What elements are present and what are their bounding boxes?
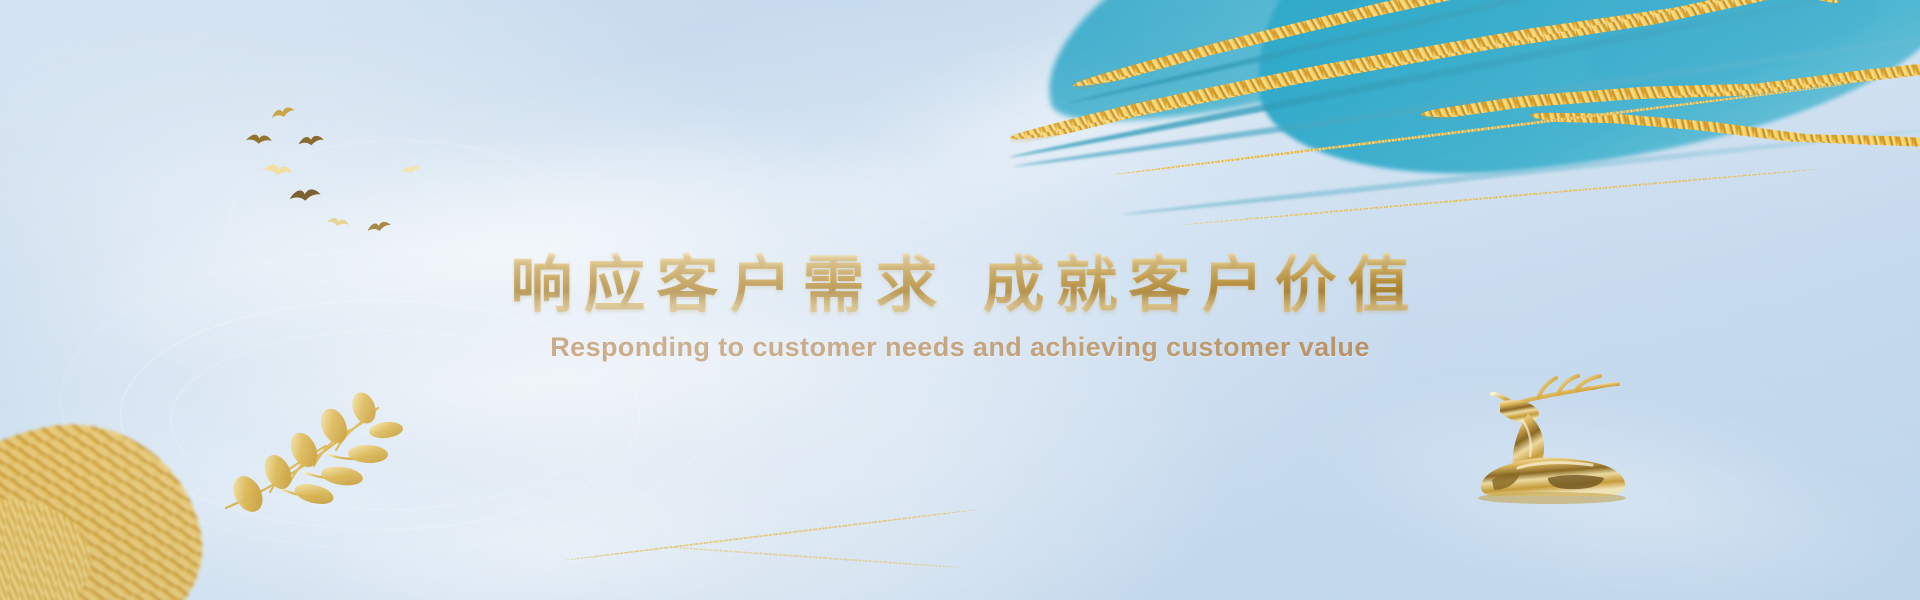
bird-icon [269,103,298,123]
vein-edge [1014,29,1920,170]
bird-icon [399,163,422,178]
teal-water-pool [1233,0,1920,201]
flying-birds-group [240,100,440,230]
gold-filament [1113,83,1848,176]
bird-icon [243,130,274,148]
marble-swirl [586,0,1555,443]
gold-marble-vein [1420,54,1920,127]
bird-icon [296,132,326,151]
gold-filament [561,508,978,561]
teal-water-pool [1015,0,1684,154]
gold-marble-vein [1070,0,1920,98]
page-subtitle: Responding to customer needs and achievi… [0,332,1920,363]
gold-marble-vein [1530,105,1920,154]
hero-banner: 响应客户需求成就客户价值 Responding to customer need… [0,0,1920,600]
bird-icon [261,159,295,181]
gold-leaf-branch-icon [218,368,428,518]
gold-marble-vein [1298,0,1842,13]
golden-deer-sculpture-icon [1452,368,1637,508]
bird-icon [287,185,322,206]
teal-water-pool [1572,0,1888,105]
bird-icon [365,218,393,236]
bird-icon [325,214,351,232]
headline-part-2: 成就客户价值 [983,252,1421,320]
vein-edge [1067,0,1920,107]
gold-filament [1181,168,1819,226]
vein-edge [1009,0,1920,161]
gold-marble-vein [1007,0,1920,153]
vein-edge [1122,125,1920,218]
page-title: 响应客户需求成就客户价值 [0,252,1920,320]
banner-text-block: 响应客户需求成就客户价值 Responding to customer need… [0,252,1920,363]
headline-part-1: 响应客户需求 [510,252,948,320]
gold-filament [660,546,959,569]
